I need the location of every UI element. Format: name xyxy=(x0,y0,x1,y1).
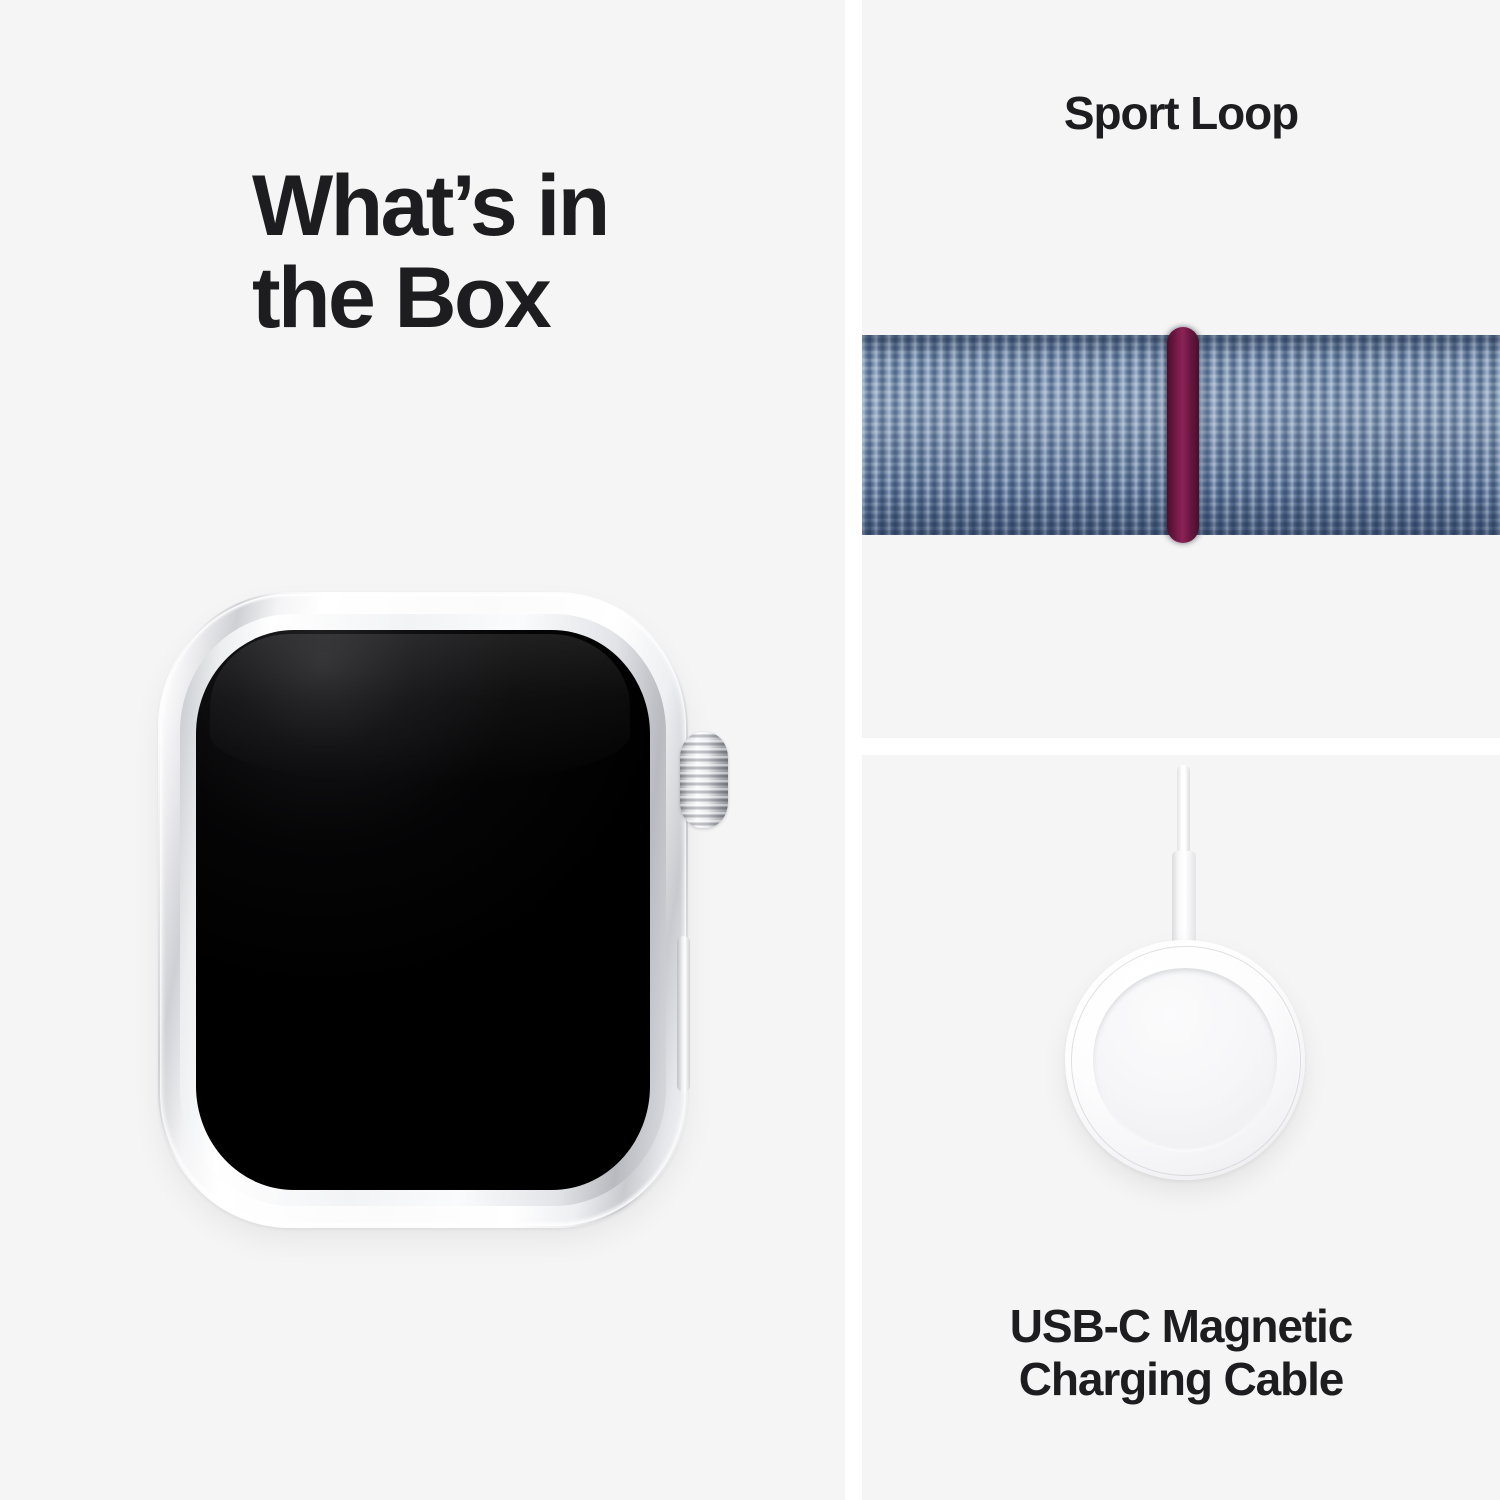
apple-watch-product-image xyxy=(158,592,688,1228)
sport-loop-caption: Sport Loop xyxy=(862,88,1500,140)
panel-whats-in-the-box: What’s in the Box xyxy=(0,0,845,1500)
digital-crown-ridges xyxy=(680,732,728,828)
band-accent-stripe xyxy=(1167,327,1199,543)
sport-loop-band xyxy=(862,335,1500,535)
side-button[interactable] xyxy=(677,936,690,1092)
product-image-canvas: What’s in the Box Sport Loop xyxy=(0,0,1500,1500)
watch-display xyxy=(196,630,650,1190)
charging-puck-face xyxy=(1093,968,1277,1152)
page-title: What’s in the Box xyxy=(252,160,772,344)
charging-cable-cord xyxy=(1177,765,1190,855)
charging-cable-caption: USB-C Magnetic Charging Cable xyxy=(862,1300,1500,1407)
digital-crown[interactable] xyxy=(680,732,728,828)
magnetic-charging-puck xyxy=(1065,940,1305,1180)
